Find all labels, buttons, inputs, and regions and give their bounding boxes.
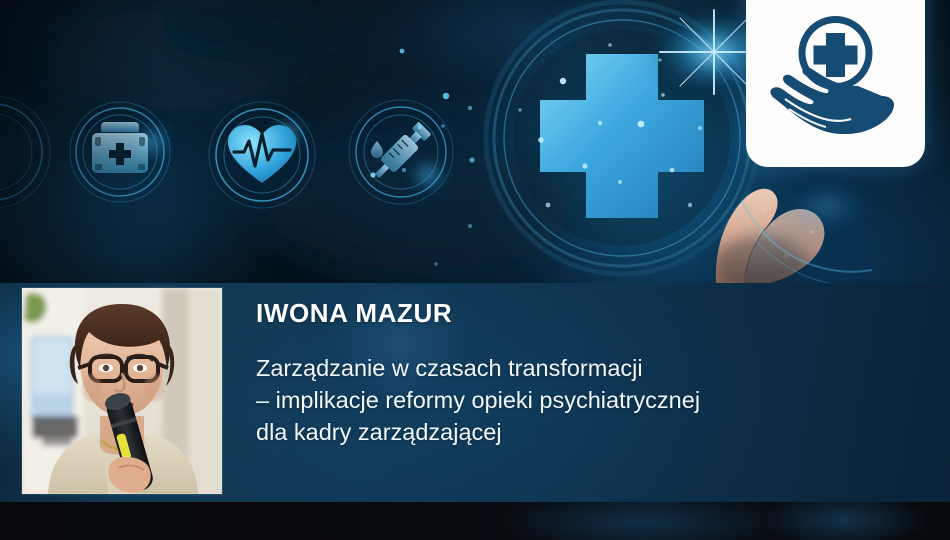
talk-title-line-1: Zarządzanie w czasach transformacji xyxy=(256,352,926,384)
speaker-title-card: IWONA MAZUR Zarządzanie w czasach transf… xyxy=(0,0,950,540)
speaker-portrait[interactable] xyxy=(22,288,222,494)
footer-strip xyxy=(0,502,950,540)
talk-title-line-2: – implikacje reformy opieki psychiatrycz… xyxy=(256,384,926,416)
hero-medical-background xyxy=(0,0,950,283)
hand-holding-medical-cross-logo xyxy=(764,14,907,134)
organization-logo-card[interactable] xyxy=(746,0,925,167)
speaker-name: IWONA MAZUR xyxy=(256,298,452,329)
talk-title-line-3: dla kadry zarządzającej xyxy=(256,416,926,448)
talk-title: Zarządzanie w czasach transformacji – im… xyxy=(256,352,926,448)
speaker-portrait-image xyxy=(22,288,222,494)
